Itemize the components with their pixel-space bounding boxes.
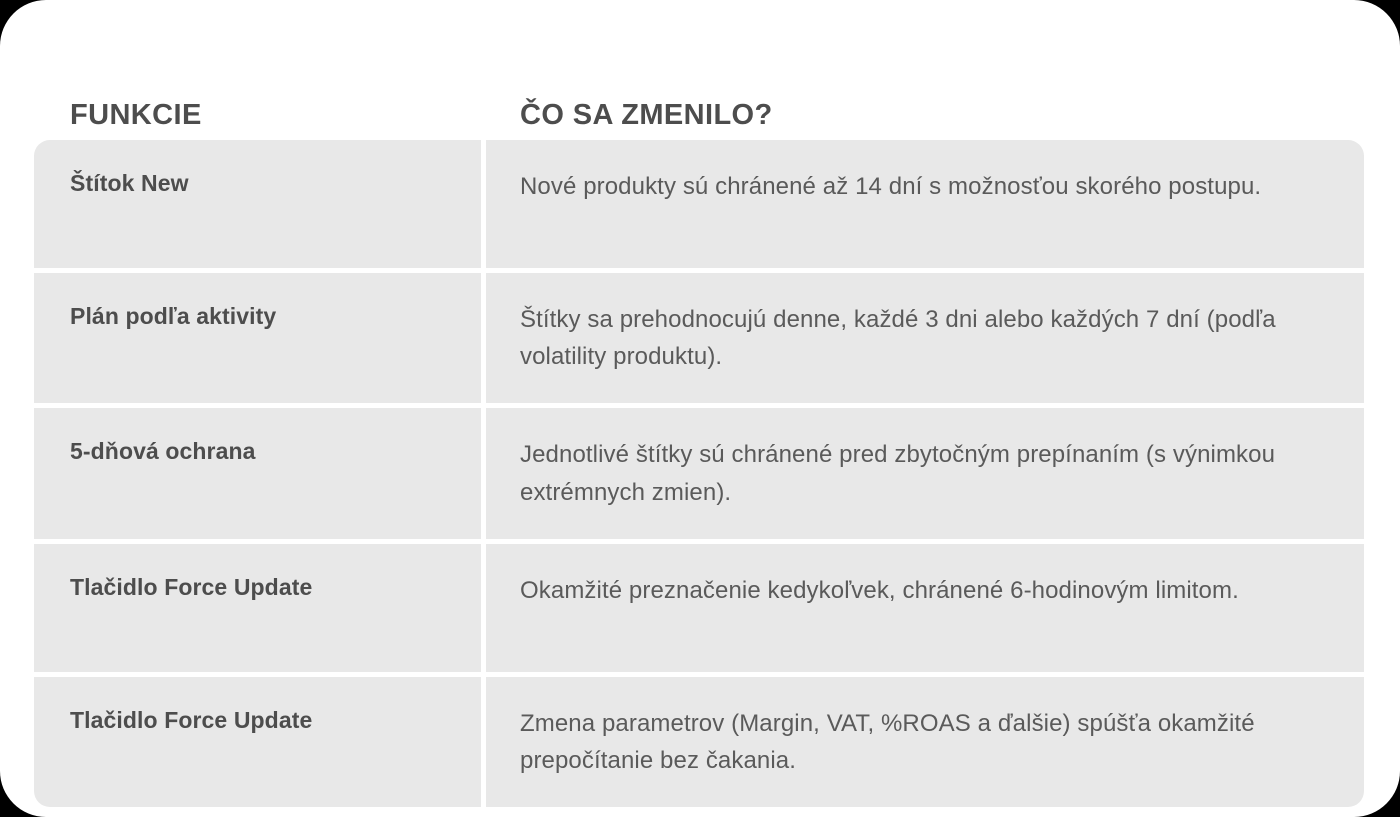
feature-label: Štítok New (70, 168, 189, 199)
change-description: Jednotlivé štítky sú chránené pred zbyto… (520, 436, 1310, 510)
cell-change: Štítky sa prehodnocujú denne, každé 3 dn… (486, 273, 1364, 403)
feature-label: Tlačidlo Force Update (70, 705, 312, 736)
change-description: Okamžité preznačenie kedykoľvek, chránen… (520, 572, 1239, 609)
cell-feature: 5-dňová ochrana (34, 408, 481, 538)
table-row: Tlačidlo Force Update Okamžité preznačen… (34, 544, 1364, 672)
column-header-feature: FUNKCIE (34, 100, 486, 132)
change-description: Štítky sa prehodnocujú denne, každé 3 dn… (520, 301, 1310, 375)
cell-change: Okamžité preznačenie kedykoľvek, chránen… (486, 544, 1364, 672)
table-row: Tlačidlo Force Update Zmena parametrov (… (34, 677, 1364, 807)
change-description: Nové produkty sú chránené až 14 dní s mo… (520, 168, 1261, 205)
feature-label: Plán podľa aktivity (70, 301, 276, 332)
cell-feature: Tlačidlo Force Update (34, 677, 481, 807)
table-row: 5-dňová ochrana Jednotlivé štítky sú chr… (34, 408, 1364, 538)
cell-feature: Štítok New (34, 140, 481, 268)
column-header-change: ČO SA ZMENILO? (486, 100, 1364, 132)
page-canvas: FUNKCIE ČO SA ZMENILO? Štítok New Nové p… (0, 0, 1400, 817)
cell-change: Nové produkty sú chránené až 14 dní s mo… (486, 140, 1364, 268)
table-body: Štítok New Nové produkty sú chránené až … (34, 140, 1364, 807)
feature-label: Tlačidlo Force Update (70, 572, 312, 603)
cell-feature: Tlačidlo Force Update (34, 544, 481, 672)
cell-change: Jednotlivé štítky sú chránené pred zbyto… (486, 408, 1364, 538)
comparison-table: FUNKCIE ČO SA ZMENILO? Štítok New Nové p… (34, 42, 1364, 807)
change-description: Zmena parametrov (Margin, VAT, %ROAS a ď… (520, 705, 1310, 779)
table-row: Plán podľa aktivity Štítky sa prehodnocu… (34, 273, 1364, 403)
cell-change: Zmena parametrov (Margin, VAT, %ROAS a ď… (486, 677, 1364, 807)
cell-feature: Plán podľa aktivity (34, 273, 481, 403)
table-header-row: FUNKCIE ČO SA ZMENILO? (34, 42, 1364, 140)
feature-label: 5-dňová ochrana (70, 436, 256, 467)
table-row: Štítok New Nové produkty sú chránené až … (34, 140, 1364, 268)
